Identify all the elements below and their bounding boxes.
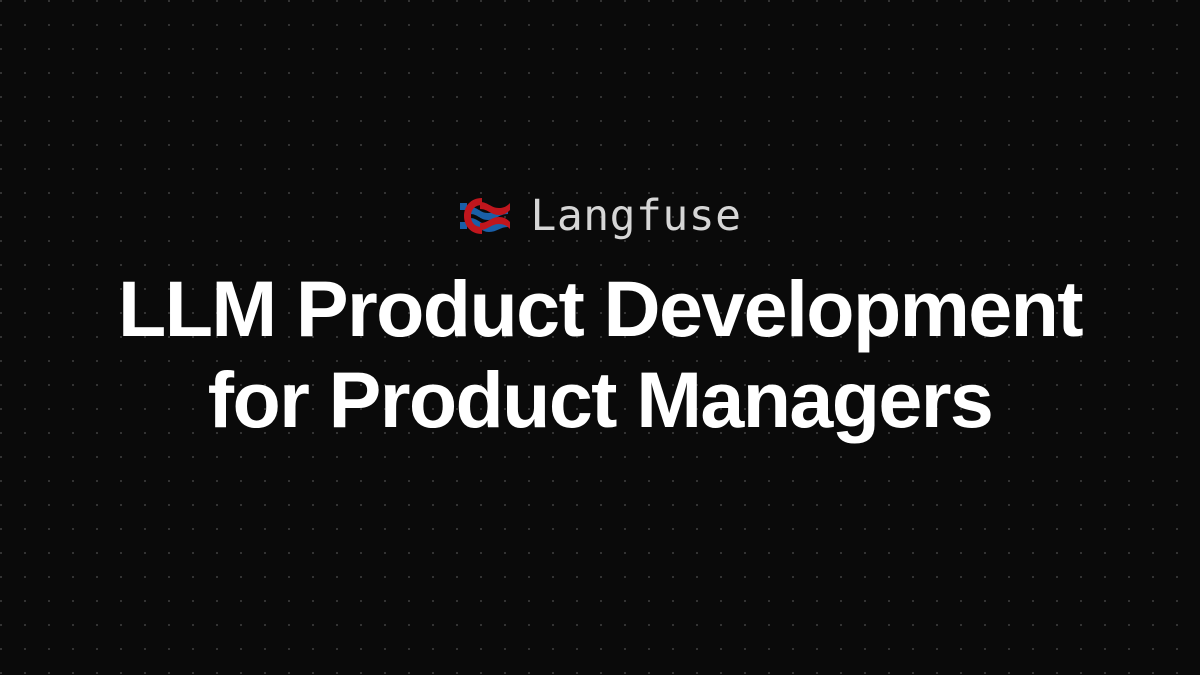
- page-title: LLM Product Development for Product Mana…: [118, 264, 1082, 444]
- og-card: Langfuse LLM Product Development for Pro…: [0, 0, 1200, 675]
- content-stack: Langfuse LLM Product Development for Pro…: [0, 194, 1200, 444]
- brand-row: Langfuse: [458, 194, 741, 238]
- langfuse-wordmark: Langfuse: [530, 195, 741, 238]
- langfuse-logo-mark-icon: [458, 194, 512, 238]
